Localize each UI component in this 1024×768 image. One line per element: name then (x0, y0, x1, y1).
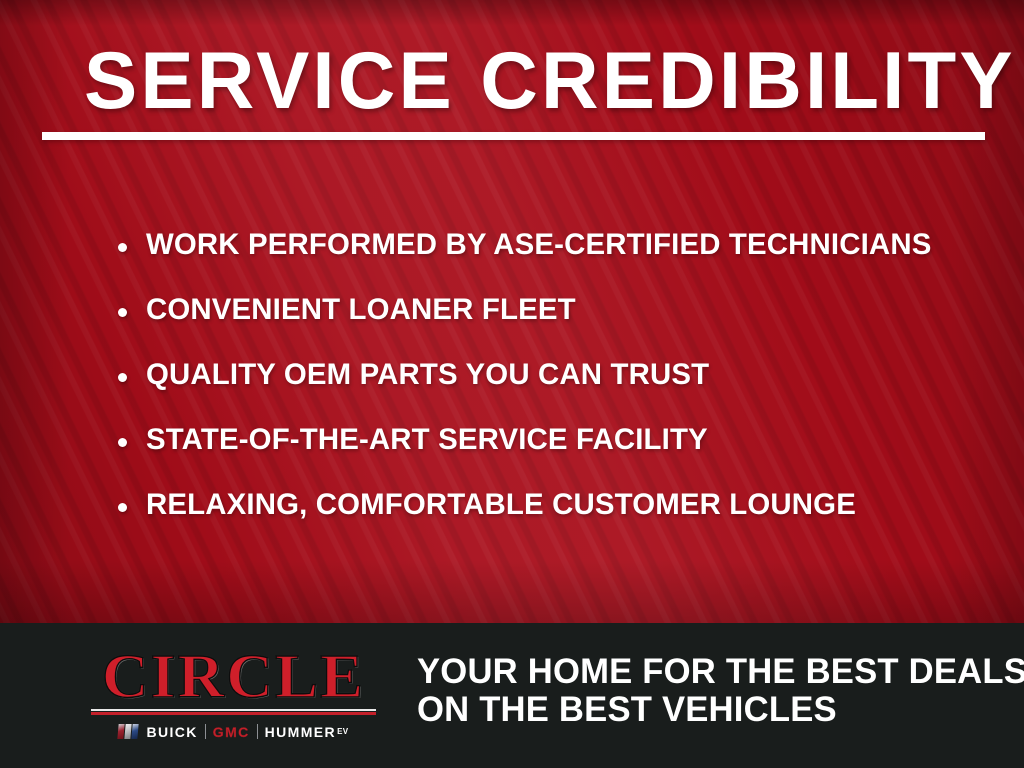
dealer-logo-wordmark: CIRCLE (85, 648, 381, 706)
bullet-dot-icon (118, 243, 127, 252)
slide-root: SERVICE CREDIBILITY WORK PERFORMED BY AS… (0, 0, 1024, 768)
brand-separator (257, 724, 258, 739)
buick-tri-shield-icon (118, 724, 138, 739)
list-item: RELAXING, COMFORTABLE CUSTOMER LOUNGE (118, 488, 998, 553)
brand-separator (205, 724, 206, 739)
list-item: WORK PERFORMED BY ASE-CERTIFIED TECHNICI… (118, 228, 998, 293)
list-item-label: RELAXING, COMFORTABLE CUSTOMER LOUNGE (146, 488, 856, 522)
footer-tagline-line-2: ON THE BEST VEHICLES (417, 691, 1024, 729)
bullet-list: WORK PERFORMED BY ASE-CERTIFIED TECHNICI… (118, 228, 998, 553)
brand-label-buick: BUICK (146, 724, 197, 740)
bullet-dot-icon (118, 438, 127, 447)
brand-label-hummer: HUMMER (265, 724, 336, 740)
list-item-label: QUALITY OEM PARTS YOU CAN TRUST (146, 358, 709, 392)
list-item: CONVENIENT LOANER FLEET (118, 293, 998, 358)
list-item-label: STATE-OF-THE-ART SERVICE FACILITY (146, 423, 708, 457)
title-divider-rule (42, 132, 985, 140)
logo-rule-red (91, 712, 376, 715)
bullet-dot-icon (118, 373, 127, 382)
page-title: SERVICE CREDIBILITY (84, 38, 1016, 124)
footer-tagline: YOUR HOME FOR THE BEST DEALS ON THE BEST… (417, 653, 1024, 729)
list-item-label: WORK PERFORMED BY ASE-CERTIFIED TECHNICI… (146, 228, 931, 262)
dealer-logo: CIRCLE BUICK GMC HUMMER EV (91, 648, 376, 741)
list-item: STATE-OF-THE-ART SERVICE FACILITY (118, 423, 998, 488)
brand-label-gmc: GMC (213, 724, 250, 740)
bullet-dot-icon (118, 308, 127, 317)
bullet-dot-icon (118, 503, 127, 512)
list-item-label: CONVENIENT LOANER FLEET (146, 293, 576, 327)
footer-tagline-line-1: YOUR HOME FOR THE BEST DEALS (417, 653, 1024, 691)
brand-label-hummer-ev: EV (337, 724, 348, 740)
list-item: QUALITY OEM PARTS YOU CAN TRUST (118, 358, 998, 423)
brand-lineup: BUICK GMC HUMMER EV (91, 722, 376, 741)
